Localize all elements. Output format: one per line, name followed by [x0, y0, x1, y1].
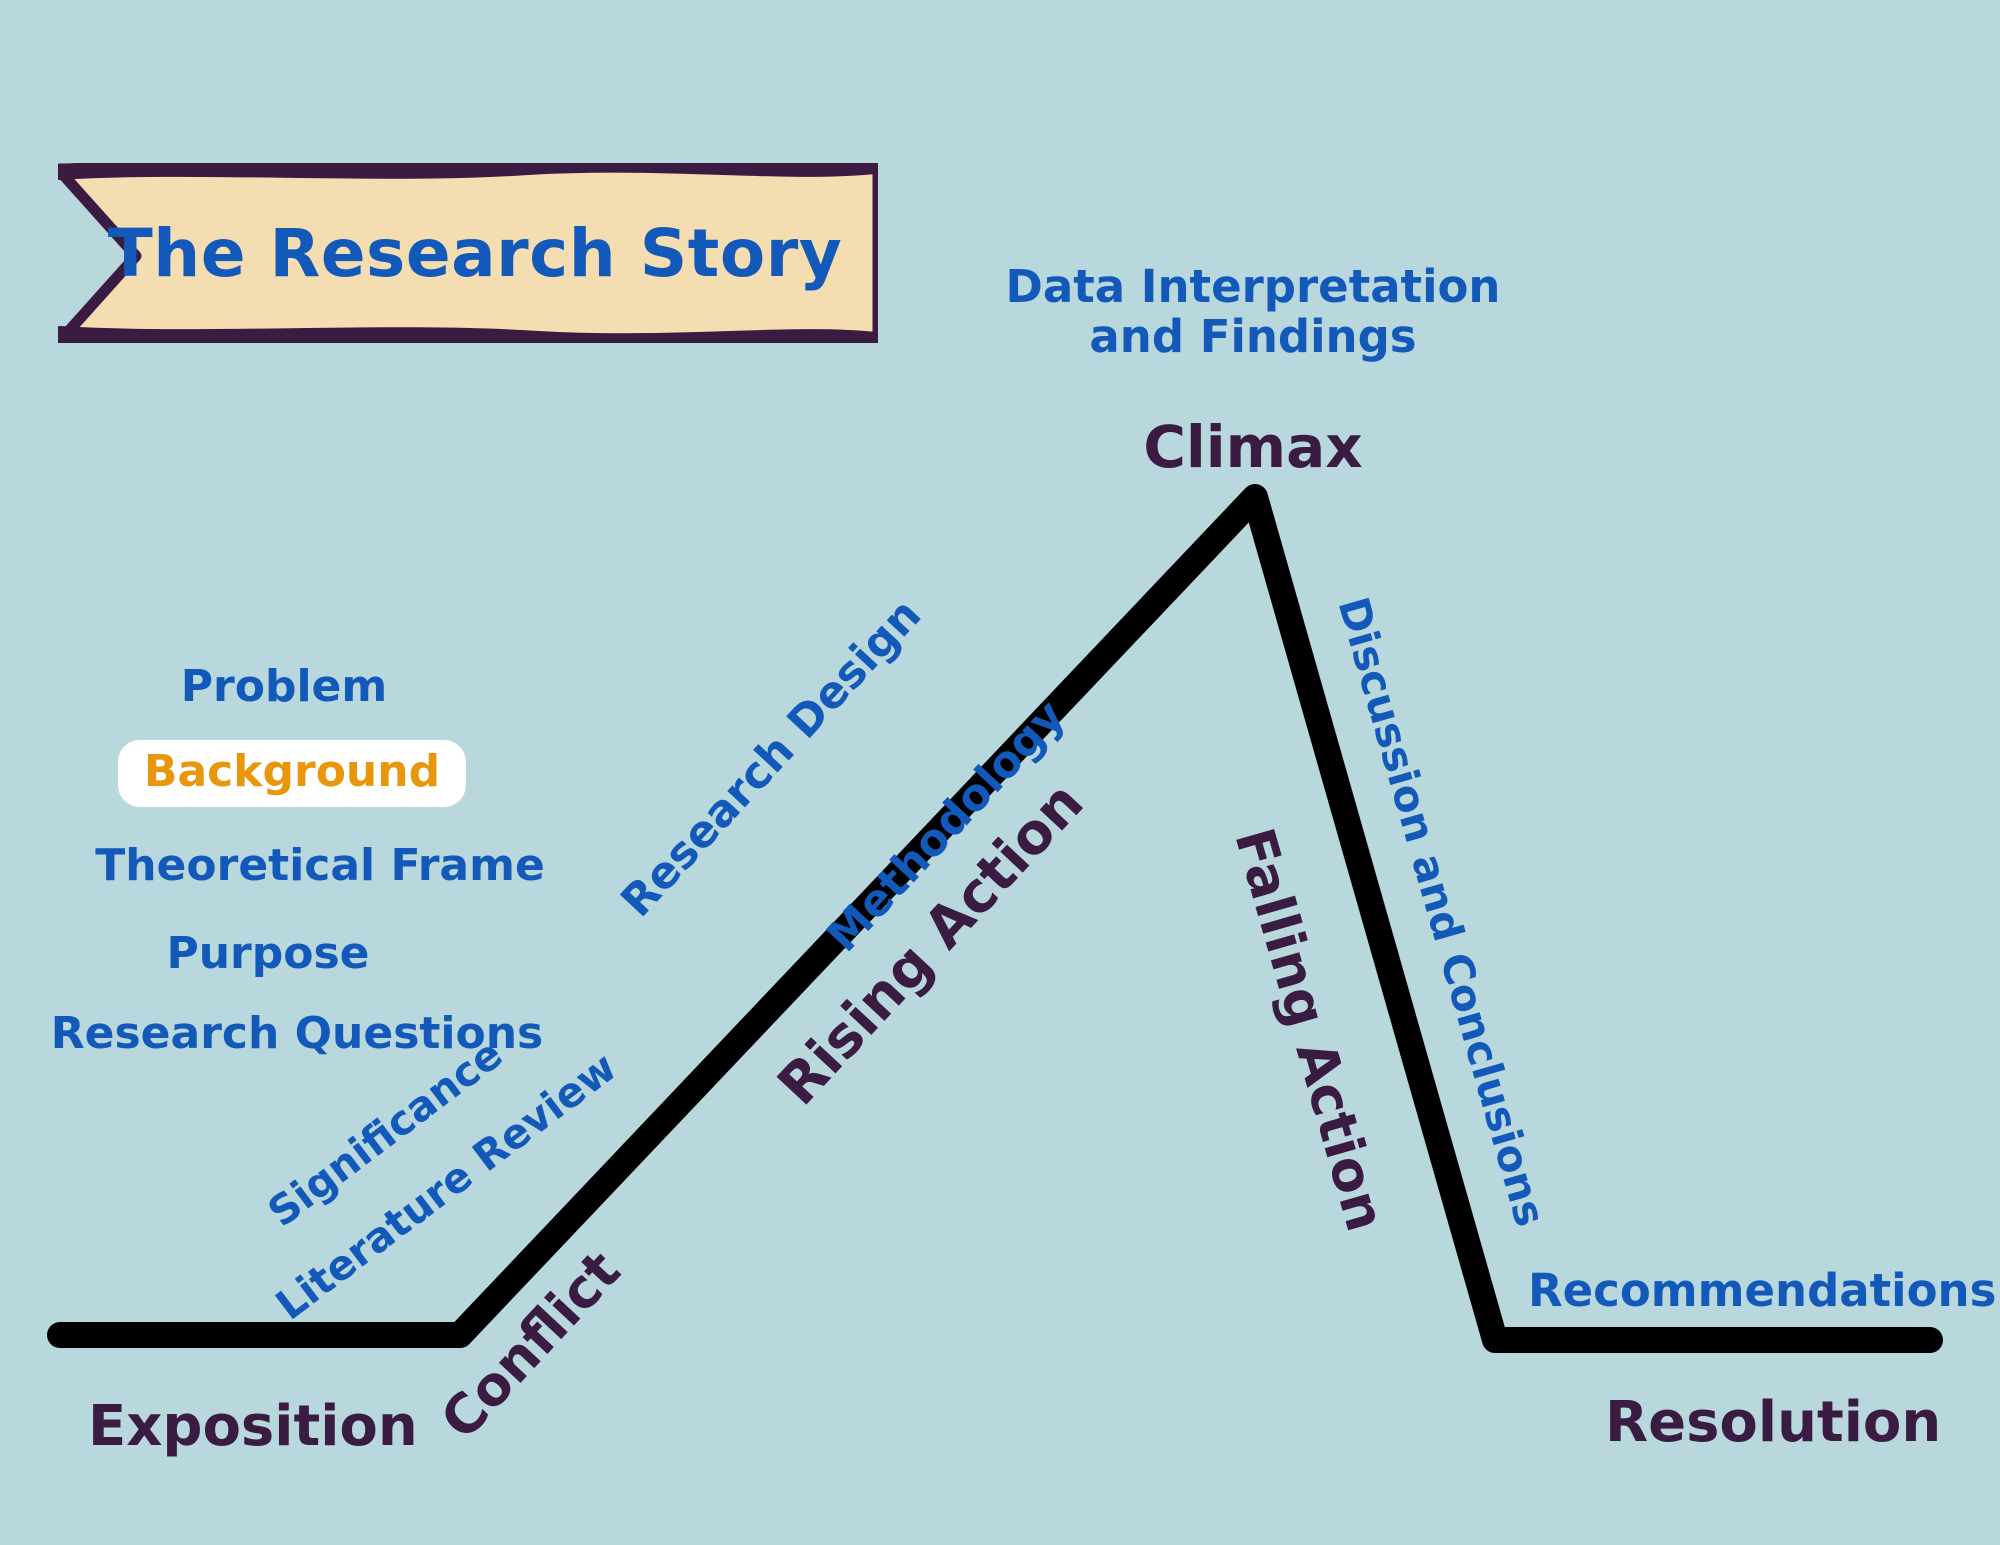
banner-title: The Research Story [58, 163, 878, 343]
title-banner: The Research Story [58, 163, 878, 343]
resolution-item-label: Recommendations [1528, 1264, 1996, 1317]
stage-label-resolution: Resolution [1605, 1392, 1941, 1455]
exposition-item-problem: Problem [181, 661, 387, 712]
exposition-item-background[interactable]: Background [118, 740, 466, 807]
stage-label-climax: Climax [1143, 415, 1362, 480]
diagram-canvas: The Research Story Problem Background Th… [0, 0, 2000, 1545]
exposition-item-label: Problem [181, 661, 387, 712]
exposition-item-label: Theoretical Frame [95, 840, 545, 891]
exposition-item-label-highlighted: Background [118, 740, 466, 807]
climax-annotation: Data Interpretation and Findings [1006, 262, 1501, 363]
exposition-item-purpose: Purpose [166, 928, 369, 979]
stage-label-conflict: Conflict [430, 1240, 632, 1451]
stage-label-falling-action: Falling Action [1223, 822, 1396, 1238]
exposition-item-label: Purpose [166, 928, 369, 979]
stage-label-exposition: Exposition [88, 1396, 418, 1459]
exposition-item-theoretical-frame: Theoretical Frame [95, 840, 545, 891]
climax-item-label: and Findings [1006, 312, 1501, 362]
resolution-item-recommendations: Recommendations [1528, 1266, 1996, 1316]
climax-item-label: Data Interpretation [1006, 262, 1501, 312]
